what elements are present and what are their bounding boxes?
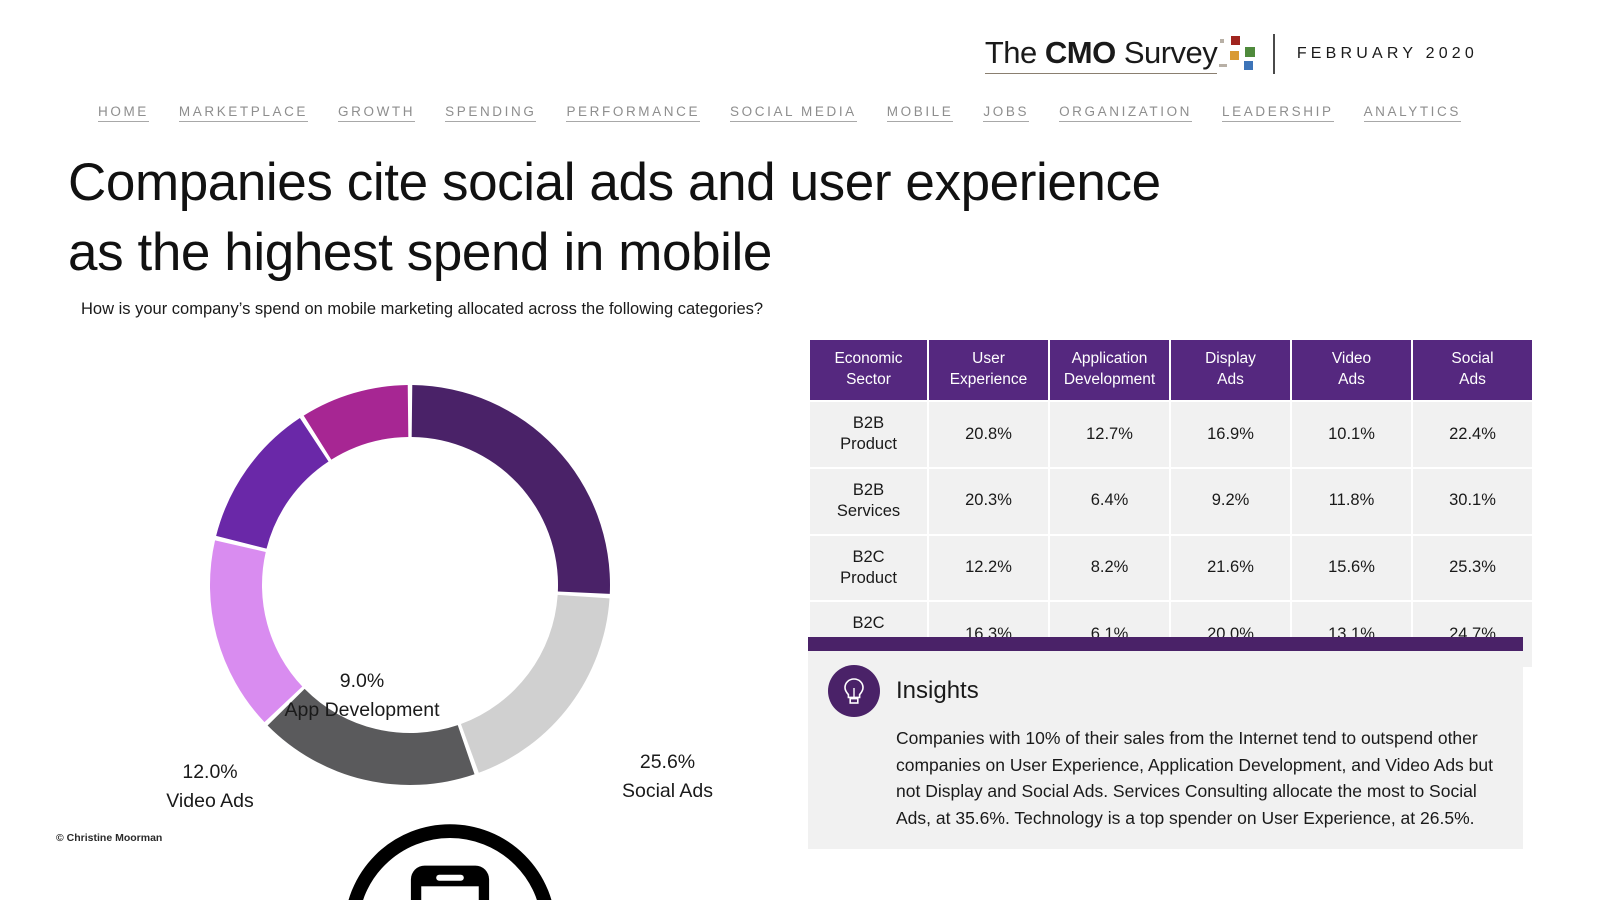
table-cell-value: 25.3% <box>1413 536 1532 601</box>
nav-item-analytics[interactable]: ANALYTICS <box>1364 104 1461 122</box>
slice-pct-video-ads: 12.0% <box>115 758 305 787</box>
nav-item-spending[interactable]: SPENDING <box>445 104 536 122</box>
insights-panel: Insights Companies with 10% of their sal… <box>808 637 1523 849</box>
table-header-row: EconomicSectorUserExperienceApplicationD… <box>810 340 1532 400</box>
donut-slice-video-ads[interactable] <box>216 418 328 549</box>
slice-label-video-ads: 12.0% Video Ads <box>115 758 305 817</box>
insights-text: Companies with 10% of their sales from t… <box>896 725 1503 831</box>
slice-name-app-development: App Development <box>247 696 477 725</box>
logo-the: The <box>985 35 1045 70</box>
nav-item-jobs[interactable]: JOBS <box>983 104 1029 122</box>
lightbulb-icon <box>828 665 880 717</box>
table-cell-value: 9.2% <box>1171 469 1290 534</box>
logo-survey: Survey <box>1116 35 1218 70</box>
nav-item-organization[interactable]: ORGANIZATION <box>1059 104 1192 122</box>
table-cell-value: 11.8% <box>1292 469 1411 534</box>
table-cell-value: 20.8% <box>929 402 1048 467</box>
slice-label-app-development: 9.0% App Development <box>247 667 477 726</box>
smartphone-icon <box>335 815 565 900</box>
table-cell-value: 30.1% <box>1413 469 1532 534</box>
main-navigation[interactable]: HOME MARKETPLACE GROWTH SPENDING PERFORM… <box>98 104 1500 122</box>
table-row: B2BServices20.3%6.4%9.2%11.8%30.1% <box>810 469 1532 534</box>
table-cell-value: 8.2% <box>1050 536 1169 601</box>
nav-item-performance[interactable]: PERFORMANCE <box>566 104 700 122</box>
table-cell-value: 20.3% <box>929 469 1048 534</box>
table-row: B2CProduct12.2%8.2%21.6%15.6%25.3% <box>810 536 1532 601</box>
insights-title: Insights <box>896 677 979 705</box>
table-cell-value: 21.6% <box>1171 536 1290 601</box>
nav-item-mobile[interactable]: MOBILE <box>887 104 954 122</box>
donut-svg <box>200 375 620 795</box>
nav-item-marketplace[interactable]: MARKETPLACE <box>179 104 308 122</box>
nav-item-leadership[interactable]: LEADERSHIP <box>1222 104 1334 122</box>
cmo-survey-logo[interactable]: The CMO Survey <box>985 35 1255 74</box>
slide-root: The CMO Survey FEBRUARY 2020 HOME MARKET… <box>0 0 1600 900</box>
table-header-video-ads: VideoAds <box>1292 340 1411 400</box>
copyright-notice: © Christine Moorman <box>56 832 162 844</box>
brand-header: The CMO Survey FEBRUARY 2020 <box>985 34 1478 74</box>
nav-item-home[interactable]: HOME <box>98 104 149 122</box>
header-divider <box>1273 34 1275 74</box>
table-cell-value: 16.9% <box>1171 402 1290 467</box>
slice-name-social-ads: Social Ads <box>575 777 760 806</box>
table-cell-value: 15.6% <box>1292 536 1411 601</box>
sector-breakdown-table: EconomicSectorUserExperienceApplicationD… <box>808 338 1523 669</box>
slice-label-social-ads: 25.6% Social Ads <box>575 748 760 807</box>
table-header-application-development: ApplicationDevelopment <box>1050 340 1169 400</box>
table-cell-value: 12.2% <box>929 536 1048 601</box>
page-title: Companies cite social ads and user exper… <box>68 148 1188 289</box>
donut-chart: 9.0% App Development 12.0% Video Ads 15.… <box>40 330 780 870</box>
insights-accent-bar <box>808 637 1523 651</box>
table-header-economic-sector: EconomicSector <box>810 340 927 400</box>
table-header-display-ads: DisplayAds <box>1171 340 1290 400</box>
nav-item-social-media[interactable]: SOCIAL MEDIA <box>730 104 857 122</box>
table-cell-value: 10.1% <box>1292 402 1411 467</box>
table-cell-sector: B2CProduct <box>810 536 927 601</box>
table-cell-sector: B2BServices <box>810 469 927 534</box>
table-header-user-experience: UserExperience <box>929 340 1048 400</box>
page-subtitle: How is your company’s spend on mobile ma… <box>81 300 763 319</box>
survey-date: FEBRUARY 2020 <box>1297 45 1478 63</box>
donut-slice-social-ads[interactable] <box>412 385 610 594</box>
slice-name-video-ads: Video Ads <box>115 787 305 816</box>
donut-slice-user-experience[interactable] <box>461 595 610 773</box>
slice-pct-app-development: 9.0% <box>247 667 477 696</box>
table-cell-sector: B2BProduct <box>810 402 927 467</box>
table-cell-value: 12.7% <box>1050 402 1169 467</box>
table-cell-value: 22.4% <box>1413 402 1532 467</box>
logo-cmo: CMO <box>1045 35 1116 70</box>
table-cell-value: 6.4% <box>1050 469 1169 534</box>
nav-item-growth[interactable]: GROWTH <box>338 104 415 122</box>
table-header-social-ads: SocialAds <box>1413 340 1532 400</box>
logo-text: The CMO Survey <box>985 35 1217 74</box>
logo-dots-icon <box>1219 36 1255 70</box>
slice-pct-social-ads: 25.6% <box>575 748 760 777</box>
table-row: B2BProduct20.8%12.7%16.9%10.1%22.4% <box>810 402 1532 467</box>
